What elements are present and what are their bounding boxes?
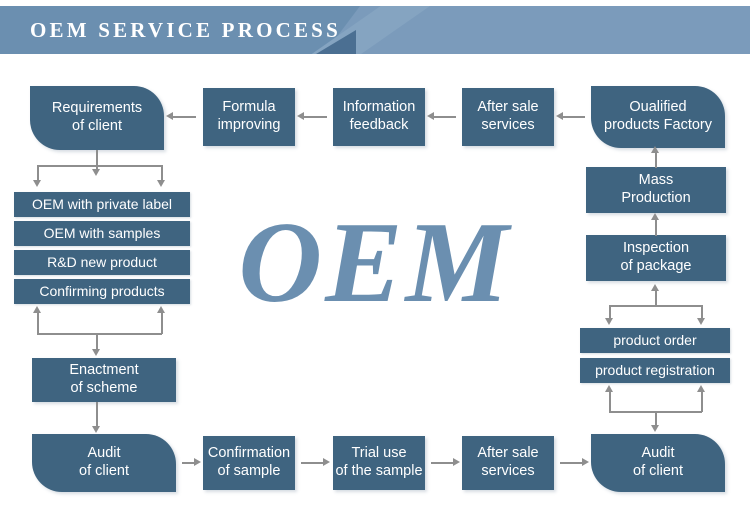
box-qualified-products-factory[interactable]: Oualified products Factory [591,86,725,148]
arrow-head-down [651,425,659,432]
list-item-product-order[interactable]: product order [580,328,730,353]
connector-line [609,391,611,412]
box-line-2: improving [218,117,281,135]
list-item-label: OEM with private label [32,196,172,213]
arrow-head-right [453,458,460,466]
box-after-sale-services-top[interactable]: After sale services [462,88,554,146]
connector-line [433,116,456,118]
page-title: OEM SERVICE PROCESS [30,6,341,54]
box-line-2: of sample [208,463,290,481]
arrow-head-up [651,146,659,153]
box-information-feedback[interactable]: Information feedback [333,88,425,146]
box-line-2: products Factory [604,117,712,135]
box-line-2: of scheme [69,380,138,398]
list-item-oem-with-samples[interactable]: OEM with samples [14,221,190,246]
box-audit-of-client-left[interactable]: Audit of client [32,434,176,492]
list-item-label: OEM with samples [44,225,161,242]
box-formula-improving[interactable]: Formula improving [203,88,295,146]
connector-line [96,402,98,428]
box-confirmation-of-sample[interactable]: Confirmation of sample [203,436,295,490]
connector-line [655,290,657,306]
connector-line [96,150,98,166]
connector-line [161,165,163,181]
arrow-head-right [323,458,330,466]
connector-line [431,462,454,464]
box-line-2: of client [79,463,129,481]
box-line-1: Inspection [621,240,692,258]
connector-bracket [37,165,162,167]
arrow-head-down [92,426,100,433]
box-line-1: Audit [79,445,129,463]
connector-line [301,462,325,464]
box-line-2: feedback [343,117,416,135]
box-after-sale-services-bottom[interactable]: After sale services [462,436,554,490]
arrow-head-down [92,169,100,176]
box-line-2: of client [633,463,683,481]
connector-bracket [37,333,162,335]
connector-line [161,312,163,334]
box-line-2: services [477,117,538,135]
connector-line [701,391,703,412]
list-item-label: product order [613,332,696,349]
arrow-head-up [651,213,659,220]
connector-line [172,116,196,118]
connector-line [609,305,611,319]
connector-line [701,305,703,319]
arrow-head-down [157,180,165,187]
arrow-head-left [556,112,563,120]
box-line-1: Information [343,99,416,117]
connector-line [655,219,657,236]
connector-line [37,312,39,334]
arrow-head-down [33,180,41,187]
list-item-label: Confirming products [39,283,164,300]
list-item-product-registration[interactable]: product registration [580,358,730,383]
list-item-confirming-products[interactable]: Confirming products [14,279,190,304]
arrow-head-left [166,112,173,120]
box-audit-of-client-right[interactable]: Audit of client [591,434,725,492]
box-line-1: Mass [621,172,690,190]
arrow-head-left [297,112,304,120]
arrow-head-up [651,284,659,291]
box-line-1: Enactment [69,362,138,380]
connector-bracket [609,305,702,307]
arrow-head-right [582,458,589,466]
box-line-2: of the sample [335,463,422,481]
oem-service-process-diagram: OEM SERVICE PROCESS OEM Requirements of … [0,0,750,505]
list-item-rd-new-product[interactable]: R&D new product [14,250,190,275]
box-enactment-of-scheme[interactable]: Enactment of scheme [32,358,176,402]
box-line-1: After sale [477,99,538,117]
arrow-head-right [194,458,201,466]
arrow-head-left [427,112,434,120]
box-requirements-of-client[interactable]: Requirements of client [30,86,164,150]
box-line-1: Audit [633,445,683,463]
box-line-2: of client [52,118,142,136]
connector-line [562,116,585,118]
arrow-head-down [92,349,100,356]
box-line-1: Confirmation [208,445,290,463]
box-line-1: Oualified [604,99,712,117]
header-banner: OEM SERVICE PROCESS [0,6,750,54]
connector-line [560,462,583,464]
box-mass-production[interactable]: Mass Production [586,167,726,213]
box-inspection-of-package[interactable]: Inspection of package [586,235,726,281]
box-line-1: Formula [218,99,281,117]
connector-line [37,165,39,181]
arrow-head-down [605,318,613,325]
oem-watermark: OEM [215,205,535,321]
box-line-1: Requirements [52,100,142,118]
box-line-1: After sale [477,445,538,463]
box-line-2: Production [621,190,690,208]
box-line-2: of package [621,258,692,276]
box-line-1: Trial use [335,445,422,463]
arrow-head-down [697,318,705,325]
list-item-oem-private-label[interactable]: OEM with private label [14,192,190,217]
box-line-2: services [477,463,538,481]
list-item-label: product registration [595,362,715,379]
connector-line [96,333,98,350]
list-item-label: R&D new product [47,254,157,271]
connector-line [303,116,327,118]
connector-line [655,152,657,168]
box-trial-use-of-the-sample[interactable]: Trial use of the sample [333,436,425,490]
